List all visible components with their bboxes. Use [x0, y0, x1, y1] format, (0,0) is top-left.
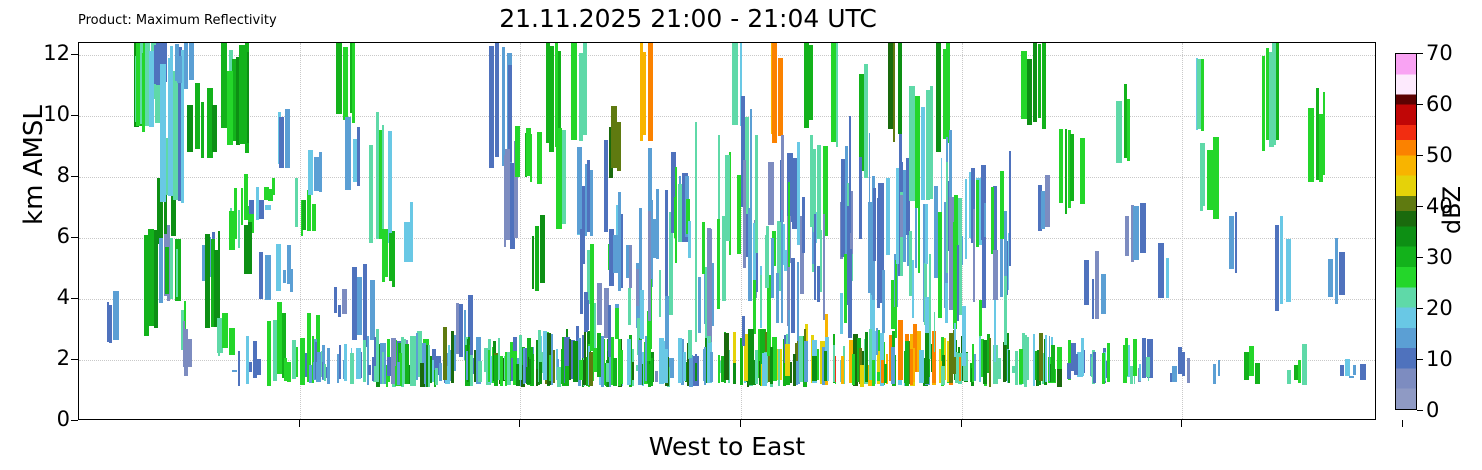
reflectivity-bar [618, 192, 622, 292]
colorbar [1395, 53, 1417, 410]
reflectivity-bar [627, 339, 632, 386]
reflectivity-bar [324, 364, 326, 381]
y-axis-tick [71, 176, 78, 177]
x-axis-tick [1402, 420, 1403, 427]
reflectivity-bar [498, 338, 500, 380]
reflectivity-bar [1092, 279, 1094, 319]
reflectivity-bar [629, 245, 632, 288]
reflectivity-bar [397, 362, 400, 385]
reflectivity-bar [426, 345, 429, 387]
reflectivity-bar [1045, 335, 1047, 382]
reflectivity-bar [930, 86, 933, 199]
reflectivity-bar [1024, 359, 1027, 383]
reflectivity-bar [357, 127, 360, 187]
reflectivity-bar [265, 205, 271, 209]
reflectivity-bar [1123, 345, 1127, 384]
reflectivity-bar [165, 247, 169, 294]
reflectivity-bar [954, 323, 956, 357]
colorbar-tick [1417, 206, 1423, 207]
reflectivity-bar [718, 355, 720, 384]
reflectivity-bar [1095, 251, 1100, 319]
reflectivity-bar [638, 340, 641, 386]
reflectivity-bar [925, 204, 928, 264]
reflectivity-bar [290, 269, 293, 293]
reflectivity-bar [562, 130, 567, 225]
reflectivity-bar [991, 187, 994, 253]
reflectivity-bar [523, 348, 525, 384]
colorbar-tick [1417, 155, 1423, 156]
reflectivity-bar [909, 231, 912, 297]
reflectivity-bar [604, 140, 609, 232]
reflectivity-bar [244, 174, 248, 220]
reflectivity-bar [1045, 175, 1050, 227]
reflectivity-bar [272, 178, 275, 195]
reflectivity-bar [946, 43, 950, 143]
reflectivity-bar [778, 58, 782, 137]
reflectivity-bar [791, 258, 795, 334]
reflectivity-bar [279, 117, 284, 168]
reflectivity-bar [918, 171, 920, 274]
reflectivity-bar [344, 344, 348, 380]
colorbar-tick [1417, 410, 1423, 411]
reflectivity-bar [648, 43, 653, 141]
reflectivity-bar [1042, 43, 1046, 129]
reflectivity-bar [345, 117, 351, 190]
reflectivity-bar [724, 333, 729, 381]
plot-area [78, 42, 1376, 420]
reflectivity-bar [748, 208, 752, 302]
reflectivity-bar [859, 157, 862, 239]
reflectivity-bar [936, 43, 941, 151]
reflectivity-bar [1065, 129, 1068, 214]
reflectivity-bar [1051, 345, 1055, 382]
reflectivity-bar [733, 363, 736, 384]
reflectivity-bar [974, 354, 977, 381]
reflectivity-bar [804, 341, 808, 382]
reflectivity-bar [1276, 43, 1279, 140]
reflectivity-bar [571, 43, 577, 140]
y-axis-tick-label: 2 [57, 346, 70, 370]
reflectivity-bar [249, 200, 254, 215]
reflectivity-bar [893, 43, 896, 142]
reflectivity-bar [770, 347, 774, 384]
reflectivity-bar [382, 125, 384, 245]
reflectivity-bar [322, 362, 324, 379]
reflectivity-bar [136, 43, 140, 126]
reflectivity-bar [1081, 338, 1084, 376]
reflectivity-bar [195, 83, 200, 149]
reflectivity-bar [505, 149, 510, 241]
reflectivity-bar [707, 228, 711, 336]
colorbar-tick-label: 10 [1426, 347, 1453, 371]
reflectivity-bar [810, 135, 813, 227]
reflectivity-bar [886, 178, 890, 255]
reflectivity-bar [836, 43, 838, 147]
reflectivity-bar [945, 283, 948, 323]
reflectivity-bar [1125, 216, 1129, 256]
reflectivity-bar [873, 188, 876, 261]
reflectivity-bar [234, 188, 237, 239]
reflectivity-bar [628, 288, 631, 325]
colorbar-gradient [1396, 54, 1416, 409]
reflectivity-bar [772, 43, 777, 143]
reflectivity-bar [1166, 258, 1169, 298]
reflectivity-bar [259, 252, 263, 300]
reflectivity-bar [1213, 137, 1219, 219]
reflectivity-bar [1033, 334, 1036, 387]
reflectivity-bar [343, 47, 349, 120]
reflectivity-bar [519, 335, 522, 380]
colorbar-frame [1395, 53, 1417, 410]
reflectivity-bar [307, 190, 311, 231]
y-axis-tick-label: 6 [57, 224, 70, 248]
reflectivity-bar [1229, 216, 1234, 269]
reflectivity-bar [640, 290, 645, 340]
reflectivity-bar [246, 336, 249, 384]
reflectivity-bar [532, 236, 534, 289]
reflectivity-bar [584, 329, 586, 381]
reflectivity-bar [312, 204, 316, 231]
reflectivity-bar [1139, 364, 1141, 381]
reflectivity-bar [257, 359, 261, 376]
reflectivity-bar [1218, 360, 1220, 376]
reflectivity-bar [1133, 206, 1139, 261]
reflectivity-bar [218, 231, 221, 328]
reflectivity-bar [781, 210, 783, 323]
reflectivity-bar [1130, 366, 1133, 385]
reflectivity-bar [621, 350, 623, 384]
reflectivity-bar [249, 362, 252, 373]
reflectivity-bar [159, 238, 163, 303]
reflectivity-bar [710, 352, 713, 382]
reflectivity-bar [1146, 357, 1150, 377]
reflectivity-bar [755, 135, 758, 253]
reflectivity-bar [608, 305, 611, 357]
reflectivity-bar [900, 195, 903, 237]
reflectivity-bar [745, 117, 749, 214]
reflectivity-bar [840, 293, 843, 335]
reflectivity-bar [794, 356, 796, 381]
reflectivity-bar [725, 155, 729, 242]
reflectivity-bar [891, 347, 895, 385]
reflectivity-bar [1200, 143, 1205, 206]
reflectivity-bar [965, 179, 967, 259]
reflectivity-bar [443, 327, 447, 380]
y-axis-tick-label: 4 [57, 285, 70, 309]
reflectivity-bar [617, 122, 622, 171]
reflectivity-bar [1003, 342, 1006, 382]
colorbar-label: dBZ [1438, 150, 1466, 270]
reflectivity-bar [915, 198, 917, 268]
reflectivity-bar [590, 244, 594, 351]
reflectivity-bar [287, 362, 292, 383]
reflectivity-bar [1302, 344, 1307, 385]
reflectivity-bar [459, 304, 463, 358]
reflectivity-bar [356, 348, 361, 379]
reflectivity-bar [833, 345, 835, 382]
reflectivity-bar [1308, 108, 1314, 182]
reflectivity-bar [864, 64, 868, 179]
reflectivity-bar [717, 219, 720, 310]
reflectivity-bar [1015, 351, 1018, 385]
reflectivity-bar [392, 231, 395, 287]
reflectivity-bar [515, 126, 520, 177]
reflectivity-bar [788, 182, 790, 268]
reflectivity-bar [1057, 369, 1062, 387]
reflectivity-bar [648, 364, 651, 387]
reflectivity-bar [1340, 365, 1344, 377]
reflectivity-bar [884, 364, 887, 384]
reflectivity-bar [336, 43, 342, 114]
reflectivity-bar [357, 277, 362, 335]
reflectivity-bar [759, 361, 761, 381]
reflectivity-bar [308, 150, 314, 195]
reflectivity-bar [232, 370, 237, 373]
page-title: 21.11.2025 21:00 - 21:04 UTC [0, 4, 1376, 33]
reflectivity-bar [170, 238, 174, 300]
reflectivity-bar [606, 363, 609, 382]
reflectivity-bar [778, 349, 781, 386]
reflectivity-bar [478, 361, 482, 382]
reflectivity-bar [1335, 238, 1338, 304]
y-axis-tick [71, 298, 78, 299]
reflectivity-bar [201, 102, 204, 159]
reflectivity-bar [919, 350, 924, 383]
reflectivity-bar [750, 109, 753, 211]
reflectivity-bar [820, 230, 822, 292]
reflectivity-bar [781, 135, 784, 223]
x-axis-tick [299, 420, 300, 427]
reflectivity-bar [551, 334, 553, 385]
colorbar-tick [1417, 53, 1423, 54]
reflectivity-bar [841, 356, 844, 384]
y-axis-tick [71, 359, 78, 360]
reflectivity-bar [577, 147, 582, 234]
reflectivity-bar [648, 211, 651, 321]
reflectivity-bar [785, 344, 790, 376]
reflectivity-bar [296, 347, 299, 376]
reflectivity-bar [569, 339, 572, 381]
reflectivity-bar [860, 365, 863, 387]
reflectivity-bar [539, 362, 542, 384]
reflectivity-bar [317, 352, 322, 376]
reflectivity-bar [535, 226, 539, 291]
reflectivity-bar [285, 109, 290, 169]
reflectivity-bar [1019, 349, 1023, 384]
reflectivity-bar [1172, 366, 1177, 383]
reflectivity-bar [170, 46, 173, 79]
reflectivity-bar [613, 358, 617, 386]
reflectivity-bar [505, 352, 507, 386]
reflectivity-bar [802, 197, 805, 254]
reflectivity-bar [404, 222, 410, 262]
reflectivity-bar [382, 229, 388, 277]
reflectivity-bar [876, 328, 878, 355]
reflectivity-bar [877, 198, 880, 308]
reflectivity-bar [976, 180, 980, 247]
radar-cross-section-figure: Product: Maximum Reflectivity 21.11.2025… [0, 0, 1482, 470]
reflectivity-bar [227, 71, 233, 145]
reflectivity-bar [352, 43, 355, 123]
reflectivity-bar [817, 145, 821, 239]
reflectivity-bar [732, 43, 738, 125]
reflectivity-bar [283, 270, 287, 284]
reflectivity-bar [742, 316, 745, 346]
reflectivity-bar [959, 357, 961, 381]
reflectivity-bar [590, 170, 593, 236]
reflectivity-bar [1353, 365, 1356, 375]
reflectivity-bar [177, 56, 182, 83]
reflectivity-bar [259, 200, 264, 219]
reflectivity-bar [1275, 225, 1279, 311]
reflectivity-bar [267, 321, 272, 386]
colorbar-tick-label: 20 [1426, 296, 1453, 320]
reflectivity-bar [895, 260, 897, 338]
reflectivity-bar [962, 306, 966, 366]
y-axis-label: km AMSL [19, 35, 49, 295]
reflectivity-bar [812, 356, 817, 381]
reflectivity-bar [526, 367, 530, 384]
reflectivity-bar [852, 354, 855, 385]
reflectivity-bar [239, 45, 245, 144]
reflectivity-bar [222, 313, 228, 349]
reflectivity-bar [1182, 352, 1185, 376]
reflectivity-bar [248, 222, 252, 274]
reflectivity-bar [388, 131, 392, 244]
reflectivity-bar [678, 184, 682, 242]
reflectivity-bar [188, 339, 192, 367]
reflectivity-bar [339, 345, 341, 378]
reflectivity-bar [367, 336, 369, 385]
reflectivity-bar [530, 134, 533, 182]
reflectivity-bar [983, 340, 987, 383]
reflectivity-bar [212, 105, 217, 153]
reflectivity-bar [809, 45, 813, 120]
reflectivity-bar [1074, 354, 1078, 375]
reflectivity-bar [435, 368, 438, 385]
reflectivity-bar [941, 366, 945, 385]
reflectivity-bar [382, 352, 384, 384]
reflectivity-bar [1339, 252, 1345, 295]
reflectivity-bar [276, 244, 281, 291]
reflectivity-bar [656, 189, 659, 259]
reflectivity-bar [905, 341, 909, 386]
reflectivity-bar [370, 280, 376, 341]
reflectivity-bar [1070, 134, 1074, 200]
reflectivity-bar [1102, 353, 1105, 384]
reflectivity-bar [334, 287, 338, 313]
reflectivity-bar [295, 178, 298, 228]
reflectivity-bar [1127, 99, 1131, 162]
reflectivity-bar [910, 349, 913, 385]
reflectivity-bar [338, 305, 341, 317]
reflectivity-bar [1298, 360, 1301, 383]
reflectivity-bar [896, 168, 899, 264]
reflectivity-bar [1255, 363, 1261, 384]
reflectivity-bar [466, 351, 468, 380]
y-axis-tick-label: 0 [57, 407, 70, 431]
reflectivity-bar [881, 360, 884, 383]
reflectivity-bar [973, 209, 975, 303]
reflectivity-bar [898, 43, 902, 134]
reflectivity-bar [302, 200, 306, 230]
reflectivity-bar [695, 363, 697, 381]
colorbar-tick-label: 70 [1426, 41, 1453, 65]
reflectivity-bar [247, 52, 249, 143]
y-axis-tick-label: 8 [57, 163, 70, 187]
reflectivity-bar [762, 353, 767, 387]
reflectivity-bar [451, 331, 454, 382]
reflectivity-bar [583, 43, 587, 135]
reflectivity-bar [760, 275, 762, 319]
y-axis-tick [71, 54, 78, 55]
x-axis-tick [740, 420, 741, 427]
reflectivity-bar [489, 46, 494, 168]
reflectivity-bar [938, 212, 942, 319]
reflectivity-bar [695, 122, 697, 236]
reflectivity-bar [565, 366, 569, 387]
reflectivity-bar [1039, 333, 1043, 381]
y-axis-tick [71, 420, 78, 421]
reflectivity-bar [1107, 343, 1110, 381]
reflectivity-bar [109, 305, 112, 344]
y-axis-tick [71, 115, 78, 116]
reflectivity-bar [1249, 346, 1254, 375]
reflectivity-bar [702, 222, 705, 274]
reflectivity-bar [116, 305, 119, 341]
reflectivity-bar [1323, 92, 1326, 176]
reflectivity-bar [253, 341, 257, 378]
reflectivity-bar [797, 142, 800, 245]
reflectivity-bar [642, 52, 646, 135]
reflectivity-bar [376, 329, 379, 382]
reflectivity-bar [953, 222, 957, 329]
reflectivity-bar [695, 226, 697, 342]
reflectivity-bar [205, 234, 210, 328]
reflectivity-bar [989, 338, 991, 387]
reflectivity-bar [1080, 138, 1086, 205]
reflectivity-bar [1008, 233, 1010, 290]
reflectivity-bar [1033, 43, 1037, 122]
reflectivity-bar [814, 214, 816, 300]
reflectivity-bar [1158, 243, 1164, 298]
reflectivity-bar [184, 43, 189, 89]
reflectivity-bar [962, 236, 964, 265]
reflectivity-bar [549, 46, 554, 152]
reflectivity-bar [410, 202, 413, 262]
reflectivity-bar [1093, 352, 1096, 383]
reflectivity-bar [698, 277, 701, 333]
reflectivity-bar [319, 152, 322, 192]
reflectivity-bar [823, 214, 825, 320]
reflectivity-bar [488, 350, 490, 381]
reflectivity-bar [160, 64, 166, 202]
reflectivity-bar [848, 249, 851, 338]
y-axis-tick [71, 237, 78, 238]
reflectivity-bar [1286, 239, 1291, 302]
reflectivity-bar [776, 273, 779, 323]
reflectivity-bar [495, 43, 500, 157]
reflectivity-bar [993, 250, 998, 300]
reflectivity-bar [659, 270, 662, 317]
reflectivity-bar [540, 215, 545, 283]
reflectivity-bar [416, 333, 418, 380]
reflectivity-bar [369, 145, 374, 243]
reflectivity-bar [342, 289, 347, 314]
reflectivity-bar [309, 365, 312, 383]
colorbar-tick-label: 60 [1426, 92, 1453, 116]
reflectivity-bar [939, 349, 941, 383]
